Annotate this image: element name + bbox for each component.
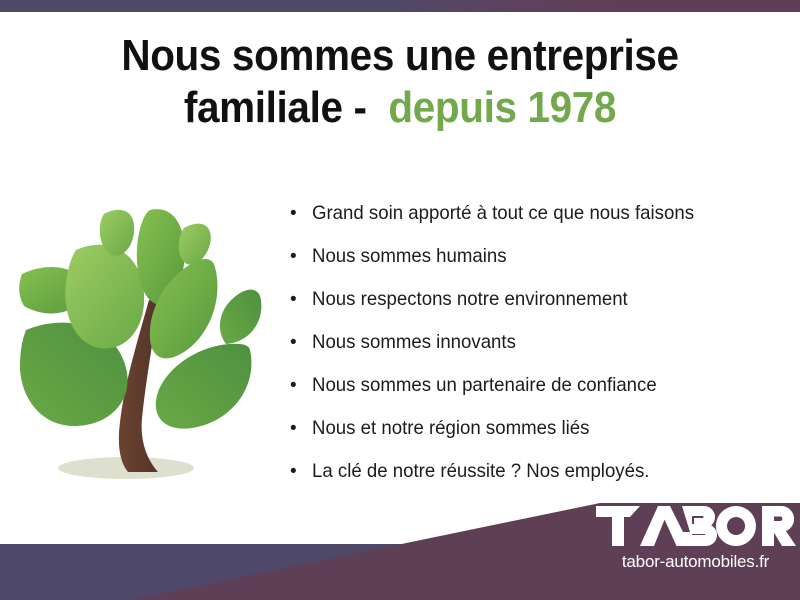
list-item-label: La clé de notre réussite ? Nos employés. [312, 450, 649, 493]
tree-leaf-right-small [220, 290, 261, 344]
bullet-marker-icon: • [290, 192, 297, 235]
list-item-label: Nous sommes un partenaire de confiance [312, 364, 657, 407]
list-item-label: Nous sommes humains [312, 235, 507, 278]
list-item: • Nous respectons notre environnement [286, 278, 786, 321]
title-line-2-dark: familiale - [184, 83, 388, 132]
list-item: • La clé de notre réussite ? Nos employé… [286, 450, 786, 493]
bullet-marker-icon: • [290, 450, 297, 493]
list-item: • Grand soin apporté à tout ce que nous … [286, 192, 786, 235]
tree-leaf-upper-left [65, 245, 144, 349]
slide-canvas: Nous sommes une entreprise familiale - d… [0, 0, 800, 600]
list-item-label: Grand soin apporté à tout ce que nous fa… [312, 192, 694, 235]
bullet-marker-icon: • [290, 321, 297, 364]
bullet-marker-icon: • [290, 407, 297, 450]
page-title: Nous sommes une entreprise familiale - d… [0, 30, 800, 134]
tree-icon [8, 178, 274, 496]
title-line-1: Nous sommes une entreprise [32, 30, 768, 82]
bullet-list: • Grand soin apporté à tout ce que nous … [286, 192, 786, 493]
list-item: • Nous sommes humains [286, 235, 786, 278]
list-item-label: Nous sommes innovants [312, 321, 516, 364]
tree-leaf-top-left [100, 210, 134, 256]
list-item-label: Nous respectons notre environnement [312, 278, 628, 321]
bullet-marker-icon: • [290, 278, 297, 321]
bullet-marker-icon: • [290, 235, 297, 278]
tabor-wordmark-icon [596, 506, 796, 546]
list-item: • Nous sommes un partenaire de confiance [286, 364, 786, 407]
tree-leaf-top-right [179, 224, 211, 265]
brand-logo[interactable]: tabor-automobiles.fr [596, 506, 800, 590]
top-accent-bar [0, 0, 800, 12]
bullet-marker-icon: • [290, 364, 297, 407]
list-item: • Nous et notre région sommes liés [286, 407, 786, 450]
list-item: • Nous sommes innovants [286, 321, 786, 364]
brand-url[interactable]: tabor-automobiles.fr [596, 552, 795, 572]
title-line-2-highlight: depuis 1978 [388, 83, 616, 132]
list-item-label: Nous et notre région sommes liés [312, 407, 589, 450]
title-line-2: familiale - depuis 1978 [32, 82, 768, 134]
